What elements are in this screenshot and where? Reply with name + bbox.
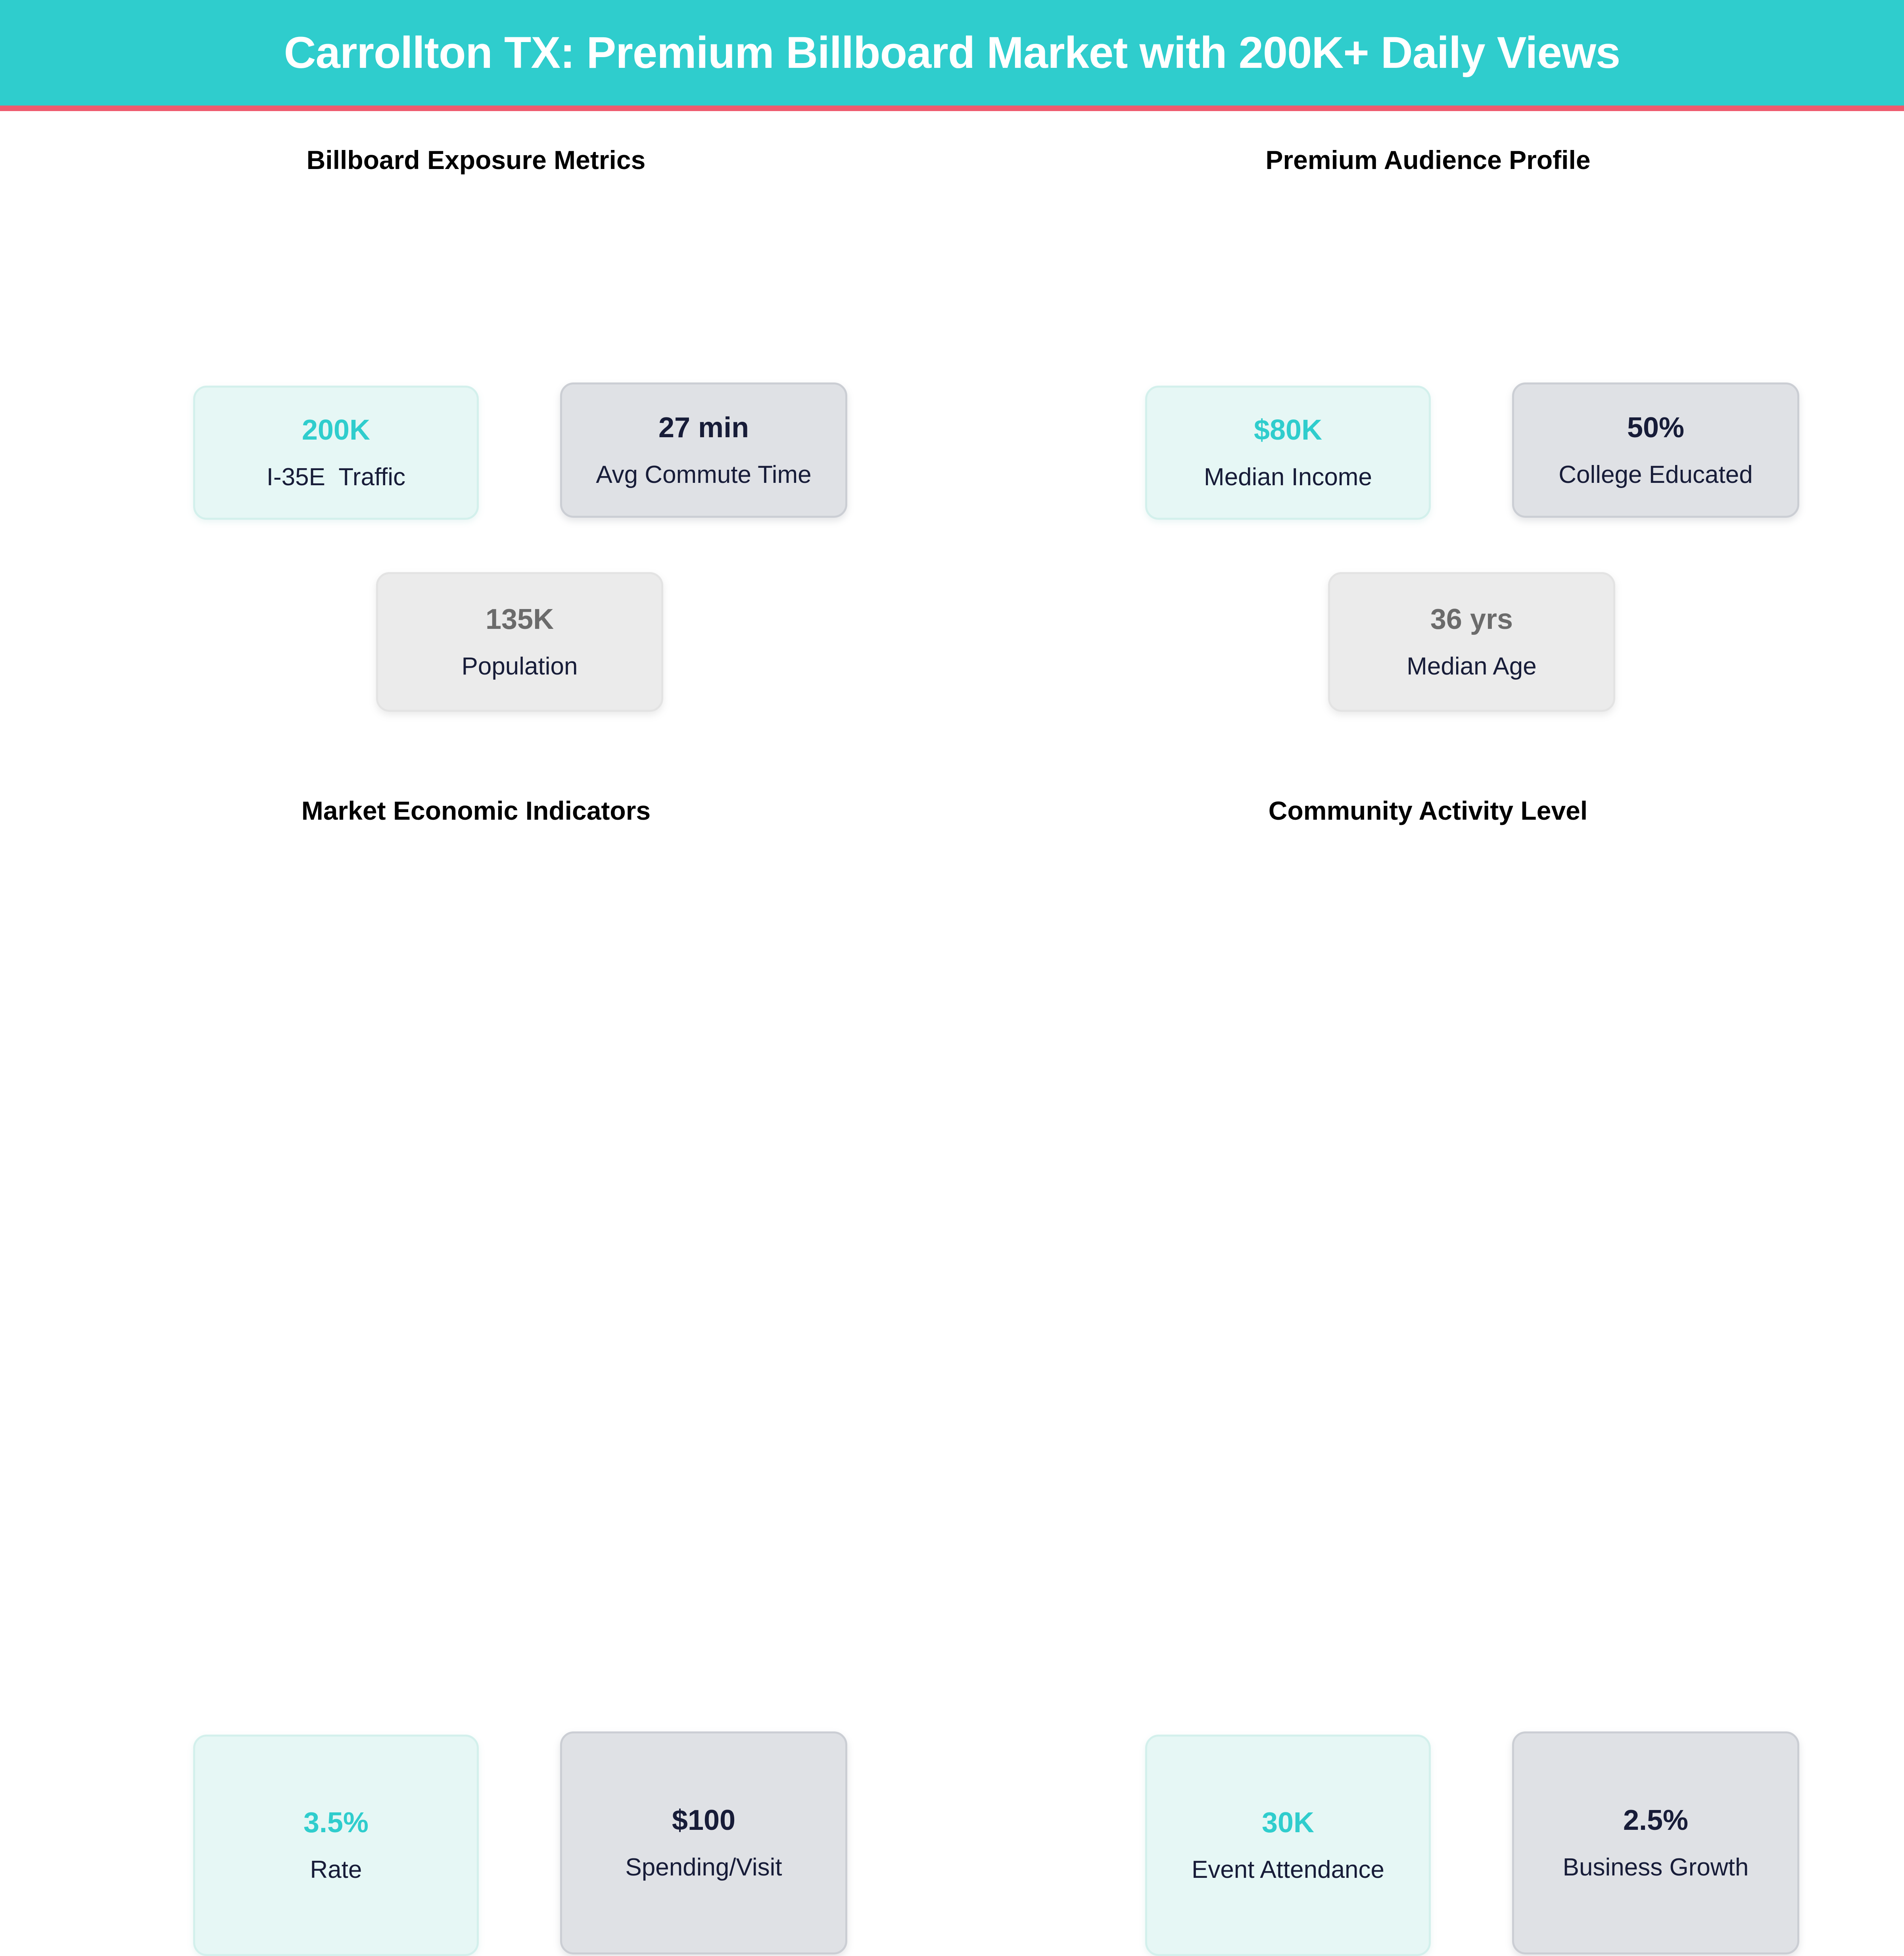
metric-card[interactable]: 30K Event Attendance — [1145, 1735, 1431, 1956]
metric-value: 36 yrs — [1430, 605, 1513, 634]
header-accent-bar — [0, 106, 1904, 111]
metric-value: $100 — [672, 1806, 735, 1835]
metric-label: Median Age — [1407, 654, 1536, 679]
metric-card[interactable]: 2.5% Business Growth — [1512, 1731, 1799, 1954]
panel-community-activity-level: Community Activity Level 30K Event Atten… — [952, 762, 1904, 1397]
card-area: 30K Event Attendance 2.5% Business Growt… — [952, 762, 1904, 1397]
metric-value: $80K — [1254, 416, 1322, 444]
metric-value: 3.5% — [303, 1808, 369, 1837]
metric-card[interactable]: 27 min Avg Commute Time — [560, 382, 847, 518]
metric-label: Avg Commute Time — [596, 463, 811, 487]
metric-value: 30K — [1262, 1808, 1314, 1837]
metric-label: Spending/Visit — [625, 1855, 782, 1880]
metric-value: 27 min — [658, 413, 749, 442]
metric-value: 200K — [302, 416, 370, 444]
card-area: $80K Median Income 50% College Educated … — [952, 111, 1904, 746]
metric-card[interactable]: 36 yrs Median Age — [1328, 572, 1615, 712]
card-area: 3.5% Rate $100 Spending/Visit — [0, 762, 952, 1397]
panel-billboard-exposure-metrics: Billboard Exposure Metrics 200K I-35E Tr… — [0, 111, 952, 746]
metric-card[interactable]: 135K Population — [376, 572, 663, 712]
metric-label: Business Growth — [1563, 1855, 1749, 1880]
header-banner: Carrollton TX: Premium Billboard Market … — [0, 0, 1904, 106]
panel-market-economic-indicators: Market Economic Indicators 3.5% Rate $10… — [0, 762, 952, 1397]
dashboard-grid: Billboard Exposure Metrics 200K I-35E Tr… — [0, 111, 1904, 1428]
metric-card[interactable]: $100 Spending/Visit — [560, 1731, 847, 1954]
metric-card[interactable]: 3.5% Rate — [193, 1735, 479, 1956]
metric-value: 50% — [1627, 413, 1684, 442]
metric-label: Population — [461, 654, 578, 679]
metric-label: Median Income — [1204, 465, 1372, 490]
metric-value: 2.5% — [1623, 1806, 1688, 1835]
metric-card[interactable]: 50% College Educated — [1512, 382, 1799, 518]
page-title: Carrollton TX: Premium Billboard Market … — [284, 31, 1620, 75]
metric-label: Event Attendance — [1192, 1858, 1384, 1882]
metric-label: I-35E Traffic — [267, 465, 405, 490]
card-area: 200K I-35E Traffic 27 min Avg Commute Ti… — [0, 111, 952, 746]
panel-premium-audience-profile: Premium Audience Profile $80K Median Inc… — [952, 111, 1904, 746]
metric-label: College Educated — [1559, 463, 1752, 487]
metric-label: Rate — [310, 1858, 362, 1882]
metric-card[interactable]: 200K I-35E Traffic — [193, 386, 479, 520]
metric-value: 135K — [486, 605, 554, 634]
metric-card[interactable]: $80K Median Income — [1145, 386, 1431, 520]
